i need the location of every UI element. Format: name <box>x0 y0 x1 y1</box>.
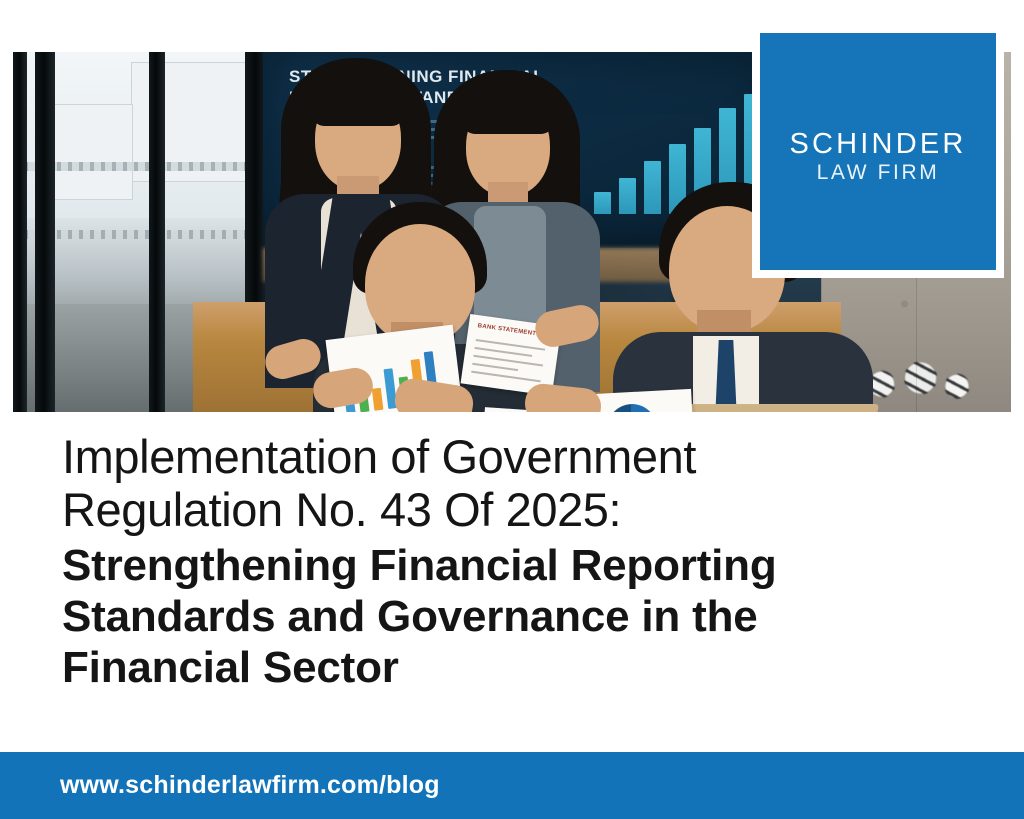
logo-primary-text: SCHINDER <box>760 128 996 161</box>
pie-graphic <box>606 403 659 412</box>
headline-line-4: Standards and Governance in the <box>62 592 758 641</box>
footer-bar: www.schinderlawfirm.com/blog <box>0 752 1024 819</box>
laptop <box>677 404 879 412</box>
website-url[interactable]: www.schinderlawfirm.com/blog <box>60 771 440 800</box>
window-mullion-2 <box>35 52 55 412</box>
headline-line-2: Regulation No. 43 Of 2025: <box>62 483 621 536</box>
bank-statement-label: BANK STATEMENT <box>477 323 536 337</box>
headline-line-1: Implementation of Government <box>62 430 696 483</box>
headline-bold: Strengthening Financial Reporting Standa… <box>62 540 962 693</box>
brand-logo[interactable]: SCHINDER LAW FIRM <box>752 25 1004 278</box>
building-near <box>53 104 133 200</box>
handout-bar-2 <box>372 388 384 411</box>
logo-blue-box: SCHINDER LAW FIRM <box>760 33 996 270</box>
window-mullion-3 <box>149 52 165 412</box>
headline-line-3: Strengthening Financial Reporting <box>62 541 777 590</box>
window-mullion-1 <box>13 52 27 412</box>
headline-light: Implementation of Government Regulation … <box>62 430 962 536</box>
logo-secondary-text: LAW FIRM <box>760 161 996 185</box>
headline-line-5: Financial Sector <box>62 643 399 692</box>
blog-cover-poster: STRENGTHENING FINANCIAL REPORTING STANDA… <box>0 0 1024 819</box>
page-title: Implementation of Government Regulation … <box>62 430 962 693</box>
